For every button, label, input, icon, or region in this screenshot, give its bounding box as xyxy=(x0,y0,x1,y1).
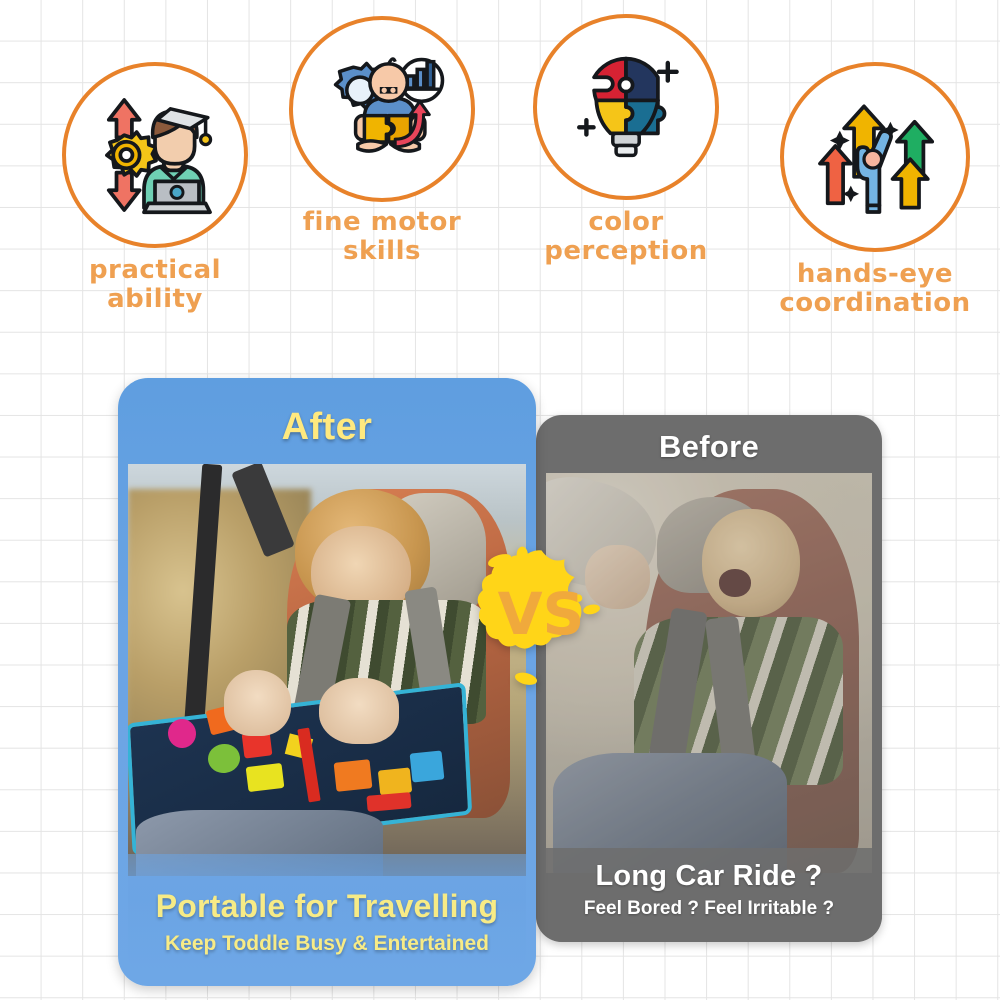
feature-icon-circle xyxy=(62,62,248,248)
before-after-comparison: Before Long Car Ride ? Feel Bored ? Feel… xyxy=(0,360,1000,1000)
before-footer: Long Car Ride ? Feel Bored ? Feel Irrita… xyxy=(536,848,882,942)
after-footer: Portable for Travelling Keep Toddle Busy… xyxy=(128,888,526,966)
puzzle-lightbulb-icon xyxy=(560,41,692,173)
before-footer-main: Long Car Ride ? xyxy=(544,860,874,893)
gear-person-laptop-arrows-icon xyxy=(89,89,221,221)
feature-label: color perception xyxy=(520,208,732,266)
feature-fine-motor-skills: fine motor skills xyxy=(277,16,487,266)
vs-badge: VS xyxy=(466,540,616,690)
feature-icon-circle xyxy=(780,62,970,252)
feature-icon-circle xyxy=(533,14,719,200)
before-title: Before xyxy=(536,429,882,465)
vs-label: VS xyxy=(498,580,585,648)
vs-splash-icon: VS xyxy=(466,540,616,690)
feature-label: practical ability xyxy=(40,256,270,314)
feature-practical-ability: practical ability xyxy=(40,62,270,314)
after-footer-sub: Keep Toddle Busy & Entertained xyxy=(128,932,526,956)
after-footer-main: Portable for Travelling xyxy=(128,888,526,925)
feature-color-perception: color perception xyxy=(520,14,732,266)
growth-arrows-child-icon xyxy=(809,91,941,223)
feature-label: fine motor skills xyxy=(277,208,487,266)
feature-label: hands-eye coordination xyxy=(765,260,985,318)
feature-highlights-row: practical ability xyxy=(0,0,1000,360)
baby-puzzle-gear-chart-icon xyxy=(316,43,448,175)
after-title: After xyxy=(128,406,526,449)
feature-hands-eye-coordination: hands-eye coordination xyxy=(765,62,985,318)
feature-icon-circle xyxy=(289,16,475,202)
before-footer-sub: Feel Bored ? Feel Irritable ? xyxy=(544,898,874,920)
